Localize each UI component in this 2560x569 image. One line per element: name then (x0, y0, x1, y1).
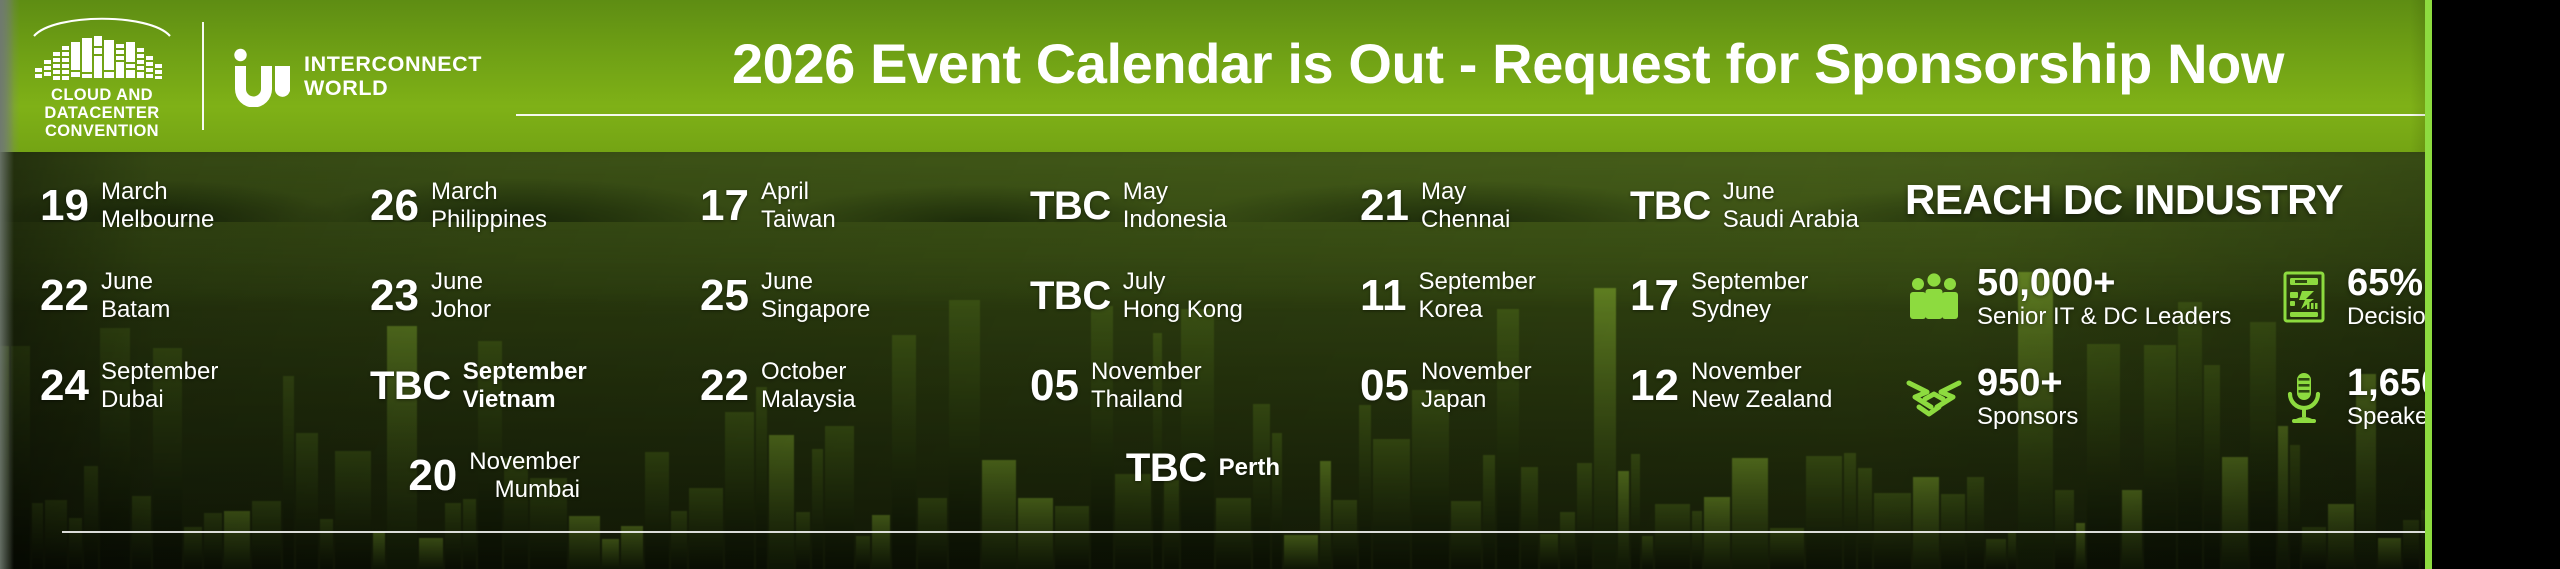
headline-zone: 2026 Event Calendar is Out - Request for… (482, 36, 2560, 116)
event-item-perth[interactable]: TBCPerth (1126, 448, 1280, 488)
event-item-sydney[interactable]: 17SeptemberSydney (1630, 268, 1900, 325)
event-city: Taiwan (761, 206, 836, 234)
event-city: Indonesia (1123, 206, 1227, 234)
logo-divider (202, 22, 204, 130)
handshake-icon (1905, 370, 1963, 426)
event-day: TBC (1630, 186, 1711, 226)
event-month-city: SeptemberKorea (1419, 268, 1536, 325)
event-day: 20 (408, 454, 457, 498)
event-month: September (463, 358, 587, 386)
iw-logo-line2: WORLD (304, 76, 388, 100)
event-item-melbourne[interactable]: 19MarchMelbourne (40, 178, 370, 235)
event-day: 21 (1360, 184, 1409, 228)
event-month-city: AprilTaiwan (761, 178, 836, 235)
event-city: Sydney (1691, 296, 1808, 324)
event-month: June (761, 268, 870, 296)
event-month: May (1421, 178, 1510, 206)
event-city: Batam (101, 296, 170, 324)
event-day: TBC (1030, 276, 1111, 316)
event-day: 22 (40, 274, 89, 318)
event-city: Japan (1421, 386, 1532, 414)
right-black-panel (2432, 0, 2560, 569)
event-day: 11 (1360, 274, 1407, 318)
event-day: 26 (370, 184, 419, 228)
iw-logo-wordmark: INTERCONNECT WORLD (304, 52, 482, 100)
event-month-city: NovemberThailand (1091, 358, 1202, 415)
date-row4-slot-right: TBCPerth (580, 448, 1280, 488)
event-day: 22 (700, 364, 749, 408)
event-city: Melbourne (101, 206, 214, 234)
event-day: 12 (1630, 364, 1679, 408)
event-item-indonesia[interactable]: TBCMayIndonesia (1030, 178, 1360, 235)
event-month-city: NovemberMumbai (469, 448, 580, 505)
event-month-city: MarchPhilippines (431, 178, 547, 235)
event-item-mumbai[interactable]: 20NovemberMumbai (408, 448, 580, 505)
stat-sponsors: 950+ Sponsors (1905, 364, 2275, 430)
event-item-korea[interactable]: 11SeptemberKorea (1360, 268, 1630, 325)
event-item-saudi-arabia[interactable]: TBCJuneSaudi Arabia (1630, 178, 1900, 235)
event-month: November (1091, 358, 1202, 386)
event-day: TBC (1030, 186, 1111, 226)
logo-zone: CLOUD AND DATACENTER CONVENTION INTERCON… (0, 0, 482, 152)
date-row: 24SeptemberDubaiTBCSeptemberVietnam22Oct… (40, 358, 1905, 448)
stat-text: 50,000+ Senior IT & DC Leaders (1977, 264, 2231, 330)
event-month: September (101, 358, 218, 386)
event-month-city: JuneSingapore (761, 268, 870, 325)
event-month: October (761, 358, 856, 386)
event-month-city: SeptemberSydney (1691, 268, 1808, 325)
banner-headline: 2026 Event Calendar is Out - Request for… (516, 36, 2500, 92)
event-item-dubai[interactable]: 24SeptemberDubai (40, 358, 370, 415)
stat-text: 950+ Sponsors (1977, 364, 2078, 430)
event-item-chennai[interactable]: 21MayChennai (1360, 178, 1630, 235)
event-month: March (101, 178, 214, 206)
event-city: Dubai (101, 386, 218, 414)
event-item-malaysia[interactable]: 22OctoberMalaysia (700, 358, 1030, 415)
event-month: April (761, 178, 836, 206)
event-day: 05 (1360, 364, 1409, 408)
microphone-icon (2275, 370, 2333, 426)
event-month-city: OctoberMalaysia (761, 358, 856, 415)
cloud-and-datacenter-convention-logo[interactable]: CLOUD AND DATACENTER CONVENTION (26, 11, 178, 140)
event-month-city: JulyHong Kong (1123, 268, 1243, 325)
date-row: 22JuneBatam23JuneJohor25JuneSingaporeTBC… (40, 268, 1905, 358)
event-day: 24 (40, 364, 89, 408)
event-city: Saudi Arabia (1723, 206, 1859, 234)
event-city: Singapore (761, 296, 870, 324)
event-item-new-zealand[interactable]: 12NovemberNew Zealand (1630, 358, 1900, 415)
people-icon (1905, 269, 1963, 325)
stat-value: 50,000+ (1977, 264, 2231, 303)
event-item-vietnam[interactable]: TBCSeptemberVietnam (370, 358, 700, 415)
cdc-logo-line1: CLOUD AND (51, 86, 153, 104)
event-month-city: JuneJohor (431, 268, 491, 325)
event-month: June (101, 268, 170, 296)
event-city: Thailand (1091, 386, 1202, 414)
event-item-batam[interactable]: 22JuneBatam (40, 268, 370, 325)
date-row: 19MarchMelbourne26MarchPhilippines17Apri… (40, 178, 1905, 268)
event-city: Vietnam (463, 386, 587, 414)
event-city: Korea (1419, 296, 1536, 324)
banner-header: CLOUD AND DATACENTER CONVENTION INTERCON… (0, 0, 2560, 152)
event-month-city: MayChennai (1421, 178, 1510, 235)
banner-content: 19MarchMelbourne26MarchPhilippines17Apri… (0, 152, 2560, 569)
event-item-johor[interactable]: 23JuneJohor (370, 268, 700, 325)
cdc-logo-line3: CONVENTION (45, 122, 159, 140)
event-item-philippines[interactable]: 26MarchPhilippines (370, 178, 700, 235)
event-month-city: SeptemberVietnam (463, 358, 587, 415)
stat-label: Sponsors (1977, 403, 2078, 431)
event-day: 23 (370, 274, 419, 318)
event-item-hong-kong[interactable]: TBCJulyHong Kong (1030, 268, 1360, 325)
interconnect-world-logo[interactable]: INTERCONNECT WORLD (230, 45, 482, 107)
event-month: November (1421, 358, 1532, 386)
event-month-city: NovemberJapan (1421, 358, 1532, 415)
event-month-city: JuneBatam (101, 268, 170, 325)
stat-value: 950+ (1977, 364, 2078, 403)
event-city: Johor (431, 296, 491, 324)
event-month: June (1723, 178, 1859, 206)
event-city: Mumbai (469, 476, 580, 504)
event-item-japan[interactable]: 05NovemberJapan (1360, 358, 1630, 415)
iw-monogram-icon (230, 45, 292, 107)
event-city: Philippines (431, 206, 547, 234)
event-day: 17 (700, 184, 749, 228)
stat-senior-it-dc-leaders: 50,000+ Senior IT & DC Leaders (1905, 264, 2275, 330)
right-accent-bar (2425, 0, 2432, 569)
event-city: Perth (1219, 454, 1280, 482)
event-month: November (469, 448, 580, 476)
left-edge-strip (0, 0, 14, 569)
event-city: Chennai (1421, 206, 1510, 234)
event-day: 19 (40, 184, 89, 228)
event-month: March (431, 178, 547, 206)
stat-label: Senior IT & DC Leaders (1977, 303, 2231, 331)
server-rack-icon (2275, 269, 2333, 325)
event-item-singapore[interactable]: 25JuneSingapore (700, 268, 1030, 325)
event-day: 25 (700, 274, 749, 318)
event-month-city: SeptemberDubai (101, 358, 218, 415)
event-month-city: NovemberNew Zealand (1691, 358, 1832, 415)
event-month-city: MayIndonesia (1123, 178, 1227, 235)
event-city: Hong Kong (1123, 296, 1243, 324)
event-month: July (1123, 268, 1243, 296)
event-month: September (1691, 268, 1808, 296)
logo-equalizer-bars-icon (33, 34, 171, 80)
event-month: September (1419, 268, 1536, 296)
event-month: June (431, 268, 491, 296)
event-day: 17 (1630, 274, 1679, 318)
event-month-city: JuneSaudi Arabia (1723, 178, 1859, 235)
event-city: Malaysia (761, 386, 856, 414)
date-row4-slot-left: 20NovemberMumbai (40, 448, 580, 505)
cdc-logo-wordmark: CLOUD AND DATACENTER CONVENTION (44, 87, 159, 140)
event-day: TBC (370, 366, 451, 406)
event-month: November (1691, 358, 1832, 386)
event-item-thailand[interactable]: 05NovemberThailand (1030, 358, 1360, 415)
date-row: 20NovemberMumbaiTBCPerth (40, 448, 1905, 538)
event-month: May (1123, 178, 1227, 206)
event-city: New Zealand (1691, 386, 1832, 414)
bottom-divider (62, 531, 2440, 533)
event-day: TBC (1126, 448, 1207, 488)
iw-logo-line1: INTERCONNECT (304, 52, 482, 76)
event-day: 05 (1030, 364, 1079, 408)
cdc-logo-line2: DATACENTER (44, 104, 159, 122)
event-item-taiwan[interactable]: 17AprilTaiwan (700, 178, 1030, 235)
event-calendar-banner: CLOUD AND DATACENTER CONVENTION INTERCON… (0, 0, 2560, 569)
event-dates-panel: 19MarchMelbourne26MarchPhilippines17Apri… (0, 152, 1905, 569)
headline-underline (516, 114, 2500, 116)
event-month-city: MarchMelbourne (101, 178, 214, 235)
